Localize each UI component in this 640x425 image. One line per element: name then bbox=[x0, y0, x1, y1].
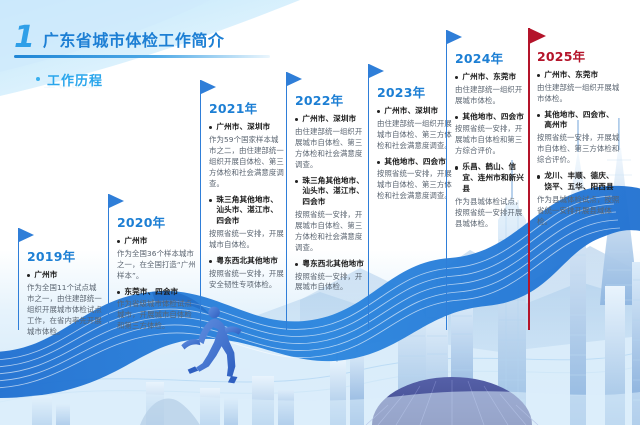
bullet-dot-icon bbox=[455, 166, 458, 169]
timeline-city-names: 乐昌、鹤山、信宜、连州市和新兴县 bbox=[462, 162, 528, 194]
timeline-description: 按照省统一安排，开展城市自体检。 bbox=[209, 229, 284, 251]
timeline-stem bbox=[286, 72, 287, 330]
timeline-flag-icon bbox=[109, 194, 124, 208]
timeline-description: 作为省级城市体检试点城市，开展城市自体检和第三方体检。 bbox=[117, 299, 196, 332]
timeline-description: 作为全国36个样本城市之一，在全国打造“广州样本”。 bbox=[117, 249, 196, 282]
timeline-year-label: 2024年 bbox=[455, 48, 528, 67]
timeline-column-body: 2024年广州市、东莞市由住建部统一组织开展城市体检。其他地市、四会市按照省统一… bbox=[446, 30, 528, 230]
timeline-flag-icon bbox=[19, 228, 34, 242]
timeline-city-bullet: 粤东西北其他地市 bbox=[295, 259, 366, 270]
bullet-dot-icon bbox=[455, 116, 458, 119]
timeline-city-bullet: 乐昌、鹤山、信宜、连州市和新兴县 bbox=[455, 162, 528, 194]
timeline-city-bullet: 广州市、深圳市 bbox=[209, 122, 284, 133]
timeline-city-names: 珠三角其他地市、汕头市、湛江市、四会市 bbox=[216, 195, 284, 227]
timeline-city-names: 广州市 bbox=[124, 236, 147, 247]
bullet-dot-icon bbox=[209, 126, 212, 129]
timeline-city-names: 广州市、深圳市 bbox=[384, 106, 438, 117]
bullet-dot-icon bbox=[209, 260, 212, 263]
bullet-dot-icon bbox=[295, 118, 298, 121]
timeline-column-body: 2019年广州市作为全国11个试点城市之一，由住建部统一组织开展城市体检试点工作… bbox=[18, 228, 104, 338]
timeline-description: 按照省统一安排，开展城市自体检、第三方体检和综合评价。 bbox=[537, 133, 620, 166]
timeline-description: 由住建部统一组织开展城市自体检、第三方体检和社会满意度调查。 bbox=[295, 127, 366, 171]
timeline-city-names: 粤东西北其他地市 bbox=[216, 256, 278, 267]
timeline-city-bullet: 广州市、深圳市 bbox=[295, 114, 366, 125]
bullet-dot-icon bbox=[209, 199, 212, 202]
bullet-dot-icon bbox=[377, 161, 380, 164]
timeline-year-label: 2023年 bbox=[377, 82, 452, 101]
bullet-dot-icon bbox=[295, 263, 298, 266]
timeline-flag-icon bbox=[447, 30, 462, 44]
timeline-city-names: 龙川、丰顺、德庆、饶平、五华、阳西县 bbox=[544, 171, 620, 193]
timeline-column-body: 2023年广州市、深圳市由住建部统一组织开展城市自体检、第三方体检和社会满意度调… bbox=[368, 64, 452, 202]
timeline-description: 按照省统一安排，开展城市自体检和第三方综合评价。 bbox=[455, 124, 528, 157]
bullet-dot-icon bbox=[117, 240, 120, 243]
timeline-stem bbox=[108, 194, 109, 330]
timeline-city-bullet: 广州市 bbox=[27, 270, 104, 281]
timeline-city-names: 广州市、深圳市 bbox=[216, 122, 270, 133]
title-underline bbox=[14, 55, 270, 58]
timeline-column-2023年[interactable]: 2023年广州市、深圳市由住建部统一组织开展城市自体检、第三方体检和社会满意度调… bbox=[368, 64, 452, 330]
timeline-description: 由住建部统一组织开展城市体检。 bbox=[537, 83, 620, 105]
timeline-column-2024年[interactable]: 2024年广州市、东莞市由住建部统一组织开展城市体检。其他地市、四会市按照省统一… bbox=[446, 30, 528, 330]
timeline-city-bullet: 其他地市、四会市 bbox=[377, 157, 452, 168]
timeline-column-body: 2020年广州市作为全国36个样本城市之一，在全国打造“广州样本”。东莞市、四会… bbox=[108, 194, 196, 332]
timeline-description: 按照省统一安排，开展城市自体检、第三方体检和社会满意度调查。 bbox=[295, 210, 366, 254]
timeline-description: 作为全国11个试点城市之一，由住建部统一组织开展城市体检试点工作，在省内率先开展… bbox=[27, 283, 104, 338]
timeline-city-bullet: 广州市、东莞市 bbox=[455, 72, 528, 83]
timeline-stem bbox=[528, 28, 530, 330]
page-title: 广东省城市体检工作简介 bbox=[43, 32, 225, 51]
timeline-city-bullet: 其他地市、四会市、高州市 bbox=[537, 110, 620, 132]
timeline-flag-icon bbox=[287, 72, 302, 86]
timeline-city-names: 其他地市、四会市 bbox=[384, 157, 446, 168]
timeline-year-label: 2021年 bbox=[209, 98, 284, 117]
timeline-city-names: 其他地市、四会市 bbox=[462, 112, 524, 123]
timeline-column-2021年[interactable]: 2021年广州市、深圳市作为59个国家样本城市之二，由住建部统一组织开展自体检、… bbox=[200, 80, 284, 330]
section-number: 1 bbox=[14, 26, 34, 51]
timeline-year-label: 2019年 bbox=[27, 246, 104, 265]
timeline-city-names: 珠三角其他地市、汕头市、湛江市、四会市 bbox=[302, 176, 366, 208]
bullet-dot-icon bbox=[36, 77, 40, 81]
timeline-flag-icon bbox=[201, 80, 216, 94]
timeline-year-label: 2022年 bbox=[295, 90, 366, 109]
slide-canvas: 1 广东省城市体检工作简介 工作历程 工作历程 2019年广州市作为全国11个试… bbox=[0, 0, 640, 425]
timeline-city-names: 广州市、东莞市 bbox=[462, 72, 516, 83]
bullet-dot-icon bbox=[537, 114, 540, 117]
timeline-city-bullet: 粤东西北其他地市 bbox=[209, 256, 284, 267]
timeline-city-bullet: 广州市、深圳市 bbox=[377, 106, 452, 117]
timeline-city-bullet: 珠三角其他地市、汕头市、湛江市、四会市 bbox=[209, 195, 284, 227]
timeline-description: 作为59个国家样本城市之二，由住建部统一组织开展自体检、第三方体检和社会满意度调… bbox=[209, 135, 284, 190]
timeline-column-2025年[interactable]: 2025年广州市、东莞市由住建部统一组织开展城市体检。其他地市、四会市、高州市按… bbox=[528, 28, 620, 330]
timeline-year-label: 2020年 bbox=[117, 212, 196, 231]
bullet-dot-icon bbox=[537, 74, 540, 77]
timeline-column-body: 2022年广州市、深圳市由住建部统一组织开展城市自体检、第三方体检和社会满意度调… bbox=[286, 72, 366, 293]
timeline-city-names: 广州市 bbox=[34, 270, 57, 281]
timeline-city-bullet: 广州市 bbox=[117, 236, 196, 247]
timeline-description: 按照省统一安排，开展城市自体检。 bbox=[295, 272, 366, 294]
timeline-description: 按照省统一安排，开展安全韧性专项体检。 bbox=[209, 269, 284, 291]
timeline-column-2019年[interactable]: 2019年广州市作为全国11个试点城市之一，由住建部统一组织开展城市体检试点工作… bbox=[18, 228, 104, 330]
timeline-stem bbox=[18, 228, 19, 330]
bullet-dot-icon bbox=[455, 76, 458, 79]
timeline-column-2020年[interactable]: 2020年广州市作为全国36个样本城市之一，在全国打造“广州样本”。东莞市、四会… bbox=[108, 194, 196, 330]
timeline-description: 按照省统一安排，开展城市自体检、第三方体检和社会满意度调查。 bbox=[377, 169, 452, 202]
timeline-city-names: 广州市、东莞市 bbox=[544, 70, 598, 81]
timeline-city-bullet: 龙川、丰顺、德庆、饶平、五华、阳西县 bbox=[537, 171, 620, 193]
title-row: 1 广东省城市体检工作简介 bbox=[14, 26, 434, 51]
timeline-column-body: 2025年广州市、东莞市由住建部统一组织开展城市体检。其他地市、四会市、高州市按… bbox=[528, 28, 620, 228]
timeline-city-names: 东莞市、四会市 bbox=[124, 287, 178, 298]
bullet-dot-icon bbox=[27, 274, 30, 277]
timeline-column-body: 2021年广州市、深圳市作为59个国家样本城市之二，由住建部统一组织开展自体检、… bbox=[200, 80, 284, 290]
timeline-city-names: 粤东西北其他地市 bbox=[302, 259, 364, 270]
timeline-city-bullet: 东莞市、四会市 bbox=[117, 287, 196, 298]
timeline-flag-icon bbox=[529, 28, 546, 44]
timeline-flag-icon bbox=[369, 64, 384, 78]
timeline-city-names: 广州市、深圳市 bbox=[302, 114, 356, 125]
bullet-dot-icon bbox=[377, 110, 380, 113]
bullet-dot-icon bbox=[117, 291, 120, 294]
timeline-city-bullet: 珠三角其他地市、汕头市、湛江市、四会市 bbox=[295, 176, 366, 208]
timeline-city-names: 其他地市、四会市、高州市 bbox=[544, 110, 620, 132]
bullet-dot-icon bbox=[537, 175, 540, 178]
bullet-dot-icon bbox=[295, 180, 298, 183]
timeline-column-2022年[interactable]: 2022年广州市、深圳市由住建部统一组织开展城市自体检、第三方体检和社会满意度调… bbox=[286, 72, 366, 330]
timeline-description: 由住建部统一组织开展城市体检。 bbox=[455, 85, 528, 107]
timeline-description: 作为县城体检试点，按照省统一安排开展县城体检。 bbox=[455, 197, 528, 230]
timeline-city-bullet: 广州市、东莞市 bbox=[537, 70, 620, 81]
timeline-city-bullet: 其他地市、四会市 bbox=[455, 112, 528, 123]
timeline-stem bbox=[200, 80, 201, 330]
timeline-description: 作为县城体检试点，按照省统一安排开展县域体检。 bbox=[537, 195, 620, 228]
timeline-stem bbox=[368, 64, 369, 330]
timeline-year-label: 2025年 bbox=[537, 46, 620, 65]
timeline-stem bbox=[446, 30, 447, 330]
timeline-description: 由住建部统一组织开展城市自体检、第三方体检和社会满意度调查。 bbox=[377, 119, 452, 152]
